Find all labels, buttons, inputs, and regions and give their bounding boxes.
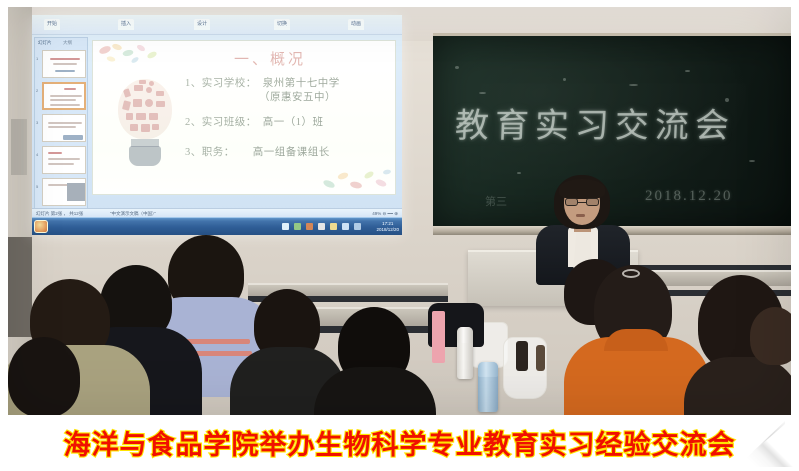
- start-button-icon[interactable]: [34, 220, 48, 233]
- slide-line-2-value: 高一（1）班: [263, 117, 324, 128]
- slide-canvas[interactable]: 一、概况: [92, 40, 396, 195]
- audience-head: [750, 307, 791, 365]
- hoodie-collar: [604, 329, 668, 351]
- screenshot-root: 教育实习交流会 第三 2018.12.20 开始 插入 设计 切换 动画: [0, 0, 799, 471]
- slide-line-3-label: 3、职务：: [185, 147, 235, 158]
- chalk-dust-mark: [563, 78, 566, 81]
- windows-taskbar[interactable]: 17:21 2018/12/20: [32, 217, 402, 235]
- slide-line-1: 1、实习学校：泉州第十七中学: [185, 77, 389, 90]
- status-slide-count: 幻灯片 第2张 ， 共12张: [36, 211, 83, 217]
- slide-line-2-label: 2、实习班级：: [185, 117, 257, 128]
- clock-date: 2018/12/20: [376, 227, 399, 233]
- taskbar-icon[interactable]: [342, 223, 349, 230]
- projection-screen: 开始 插入 设计 切换 动画 幻灯片 大纲 1: [32, 15, 402, 235]
- taskbar-icon[interactable]: [330, 223, 337, 230]
- taskbar-icon[interactable]: [294, 223, 301, 230]
- chalk-dust-mark: [685, 70, 690, 72]
- powerpoint-status-bar: 幻灯片 第2张 ， 共12张 “中文演示文稿（中国）” 49% ⊖ ━━ ⊕: [32, 208, 402, 217]
- ribbon-tab-transition[interactable]: 切换: [274, 19, 290, 30]
- thumbnail-number: 2: [36, 88, 41, 93]
- pane-tab-outline[interactable]: 大纲: [63, 40, 72, 46]
- blackboard-note: 第三: [485, 193, 507, 209]
- blue-thermos: [478, 362, 498, 412]
- pink-folder: [432, 311, 445, 363]
- slide-thumbnail-selected[interactable]: [42, 82, 86, 110]
- slide-line-1-label: 1、实习学校：: [185, 78, 257, 89]
- ribbon-tab-design[interactable]: 设计: [194, 19, 210, 30]
- slide-body: 1、实习学校：泉州第十七中学 （原惠安五中） 2、实习班级：高一（1）班 3、职…: [185, 77, 389, 160]
- slide-title: 一、概况: [93, 48, 395, 69]
- ribbon-tab-insert[interactable]: 插入: [118, 19, 134, 30]
- photo-frame: 教育实习交流会 第三 2018.12.20 开始 插入 设计 切换 动画: [6, 5, 793, 417]
- blackboard-date: 2018.12.20: [645, 188, 733, 205]
- lightbulb-icon: [115, 79, 175, 169]
- thumbnail-number: 3: [36, 120, 41, 125]
- slide-line-1b-value: （原惠安五中）: [259, 92, 336, 103]
- chalk-dust-mark: [455, 66, 459, 69]
- chalk-dust-mark: [749, 160, 755, 162]
- slide-line-1b: （原惠安五中）: [185, 91, 389, 104]
- slide-line-3: 3、职务：高一组备课组长: [185, 146, 389, 159]
- status-zoom[interactable]: 49% ⊖ ━━ ⊕: [372, 211, 398, 217]
- powerpoint-ribbon[interactable]: 开始 插入 设计 切换 动画: [32, 15, 402, 35]
- white-thermos: [457, 327, 473, 379]
- blackboard-title: 教育实习交流会: [454, 98, 791, 147]
- hair-tie: [622, 269, 640, 278]
- thumbnail-number: 4: [36, 152, 41, 157]
- slide-line-3-value: 高一组备课组长: [253, 147, 330, 158]
- slide-thumbnail[interactable]: [42, 146, 86, 174]
- audience-head: [8, 337, 80, 415]
- side-wall-shadow: [8, 237, 32, 337]
- caption-banner: 海洋与食品学院举办生物科学专业教育实习经验交流会: [6, 417, 793, 467]
- slide-thumbnail[interactable]: [42, 50, 86, 78]
- caption-text: 海洋与食品学院举办生物科学专业教育实习经验交流会: [6, 417, 793, 467]
- slide-decoration-bottom-right: [319, 166, 393, 192]
- classroom-photo: 教育实习交流会 第三 2018.12.20 开始 插入 设计 切换 动画: [8, 7, 791, 415]
- powerpoint-workspace: 幻灯片 大纲 1 2: [32, 35, 402, 217]
- chalk-dust-mark: [629, 84, 638, 86]
- taskbar-clock[interactable]: 17:21 2018/12/20: [376, 221, 399, 232]
- status-language: “中文演示文稿（中国）”: [110, 211, 156, 217]
- thumbnail-number: 5: [36, 184, 41, 189]
- taskbar-icon[interactable]: [318, 223, 325, 230]
- sweater-stripe: [184, 339, 250, 344]
- taskbar-icon[interactable]: [354, 223, 361, 230]
- ribbon-tab-animation[interactable]: 动画: [348, 19, 364, 30]
- pane-tab-slides[interactable]: 幻灯片: [38, 40, 52, 46]
- chalk-dust-mark: [479, 92, 486, 94]
- slide-thumbnail[interactable]: [42, 114, 86, 142]
- wall-panel: [11, 119, 27, 175]
- slide-line-1-value: 泉州第十七中学: [263, 78, 340, 89]
- bottle-brown: [536, 345, 545, 371]
- taskbar-icon[interactable]: [282, 223, 289, 230]
- taskbar-icon[interactable]: [306, 223, 313, 230]
- ribbon-tab-start[interactable]: 开始: [44, 19, 60, 30]
- thumbnail-number: 1: [36, 56, 41, 61]
- chalk-dust-mark: [517, 172, 521, 174]
- glasses-icon: [565, 198, 599, 206]
- slide-thumbnail[interactable]: [42, 178, 86, 206]
- slide-line-2: 2、实习班级：高一（1）班: [185, 116, 389, 129]
- slide-thumbnail-pane[interactable]: 幻灯片 大纲 1 2: [34, 37, 88, 215]
- bottle-dark: [516, 341, 528, 371]
